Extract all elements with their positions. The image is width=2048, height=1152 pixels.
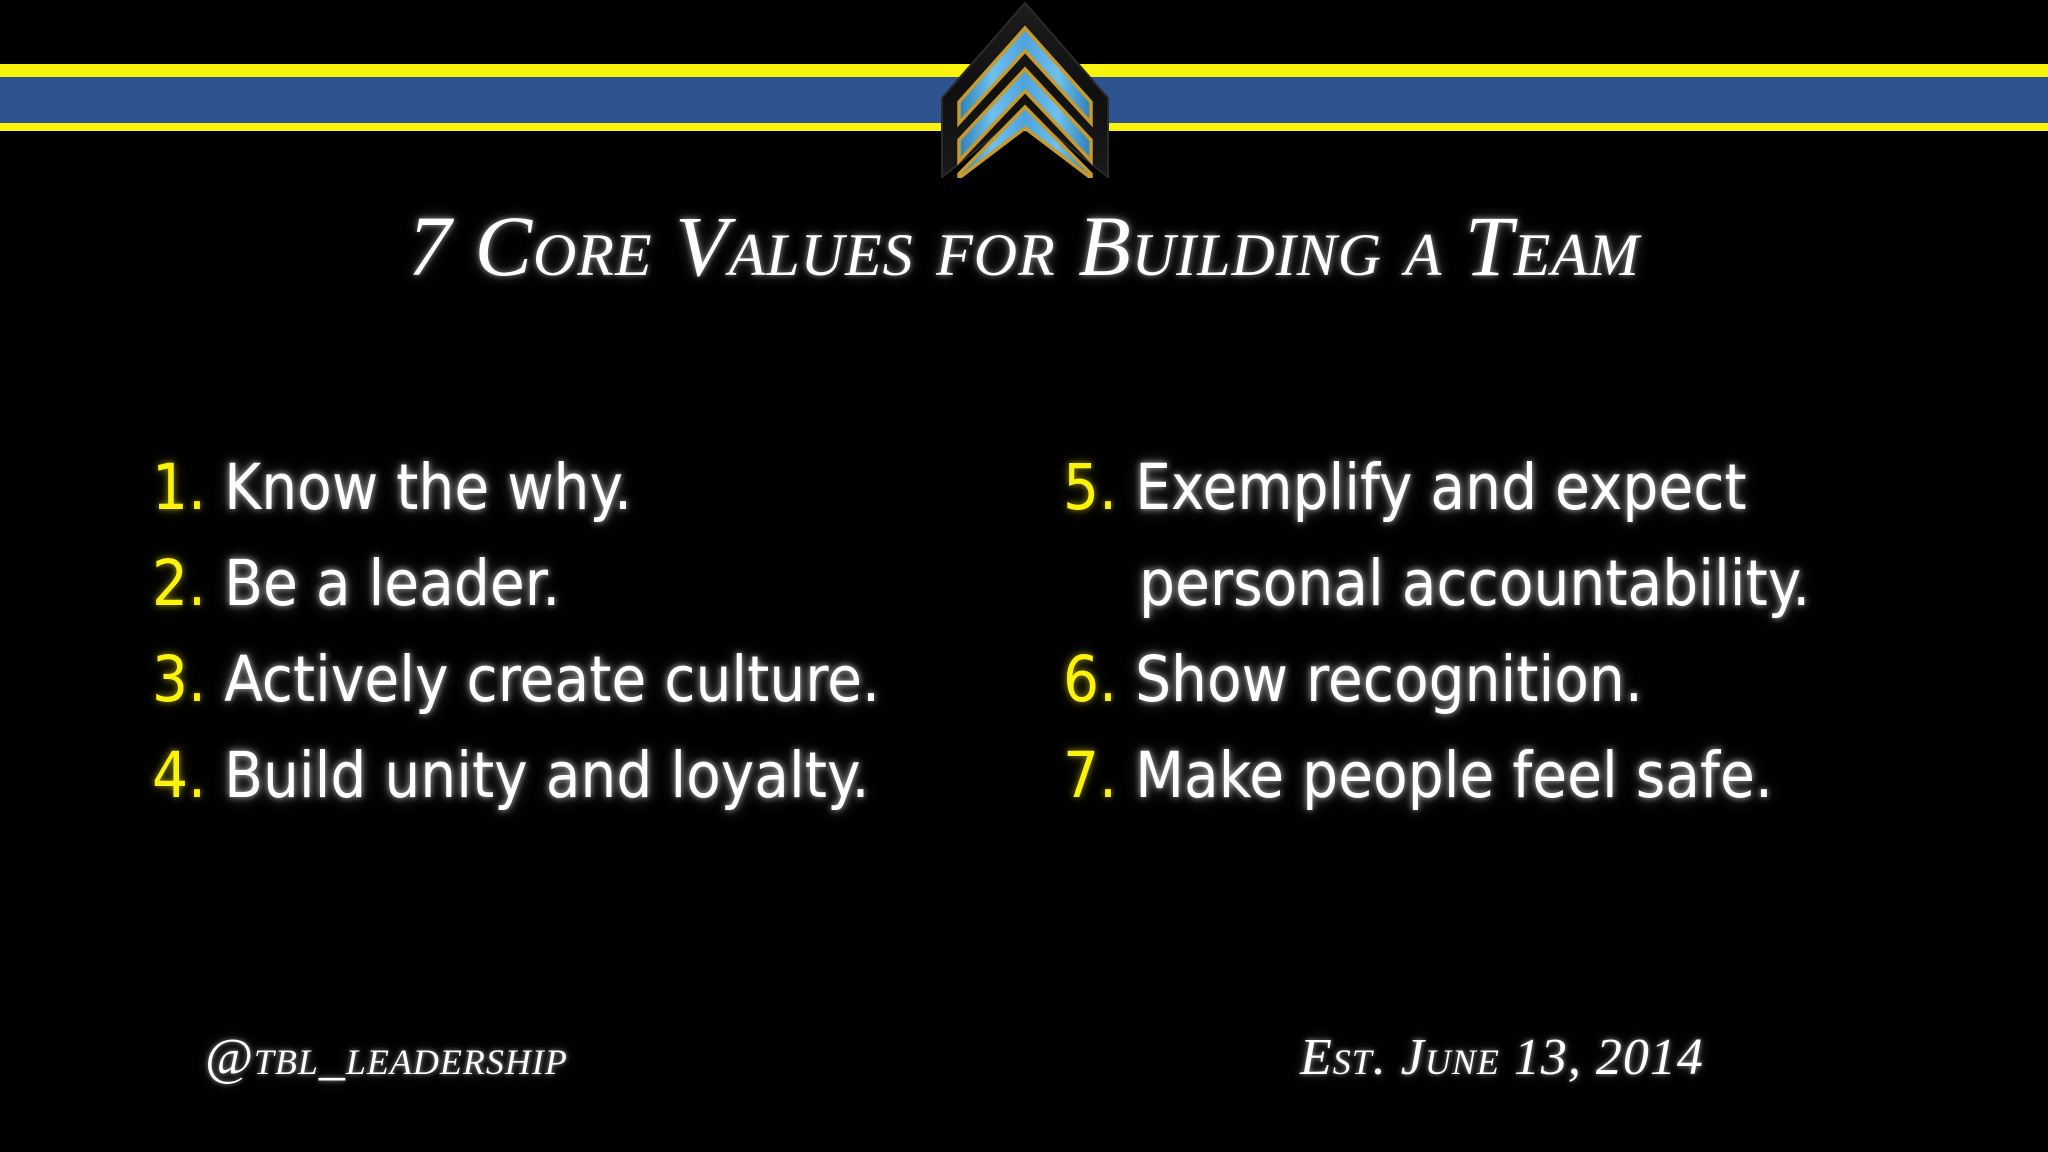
list-item: 5. Exemplify and expect — [1063, 440, 1993, 536]
list-item-number: 7. — [1063, 739, 1117, 812]
list-item: 7. Make people feel safe. — [1063, 728, 1993, 824]
list-item-text: Exemplify and expect — [1135, 451, 1747, 524]
list-item: 3. Actively create culture. — [152, 632, 992, 728]
list-item-number: 4. — [152, 739, 206, 812]
footer-established-date: Est. June 13, 2014 — [1300, 1028, 1704, 1087]
slide-title: 7 Core Values for Building a Team — [0, 196, 2048, 296]
list-item-continuation: personal accountability. — [1063, 536, 1993, 632]
list-column-right: 5. Exemplify and expect personal account… — [1063, 440, 1993, 824]
list-item-text: Show recognition. — [1135, 643, 1643, 716]
core-values-list: 1. Know the why. 2. Be a leader. 3. Acti… — [0, 440, 2048, 840]
sergeant-chevron-badge-icon — [941, 2, 1109, 178]
list-item-text: Be a leader. — [224, 547, 560, 620]
list-column-left: 1. Know the why. 2. Be a leader. 3. Acti… — [152, 440, 992, 824]
list-item-text: Actively create culture. — [224, 643, 880, 716]
list-item-text: Make people feel safe. — [1135, 739, 1773, 812]
slide-root: 7 Core Values for Building a Team 1. Kno… — [0, 0, 2048, 1152]
list-item: 1. Know the why. — [152, 440, 992, 536]
list-item-number: 3. — [152, 643, 206, 716]
list-item-number: 1. — [152, 451, 206, 524]
list-item-number: 6. — [1063, 643, 1117, 716]
list-item-text: Build unity and loyalty. — [224, 739, 869, 812]
list-item-number: 2. — [152, 547, 206, 620]
footer-handle: @tbl_leadership — [205, 1028, 568, 1087]
list-item-text: Know the why. — [224, 451, 632, 524]
list-item: 4. Build unity and loyalty. — [152, 728, 992, 824]
list-item: 2. Be a leader. — [152, 536, 992, 632]
list-item: 6. Show recognition. — [1063, 632, 1993, 728]
list-item-number: 5. — [1063, 451, 1117, 524]
